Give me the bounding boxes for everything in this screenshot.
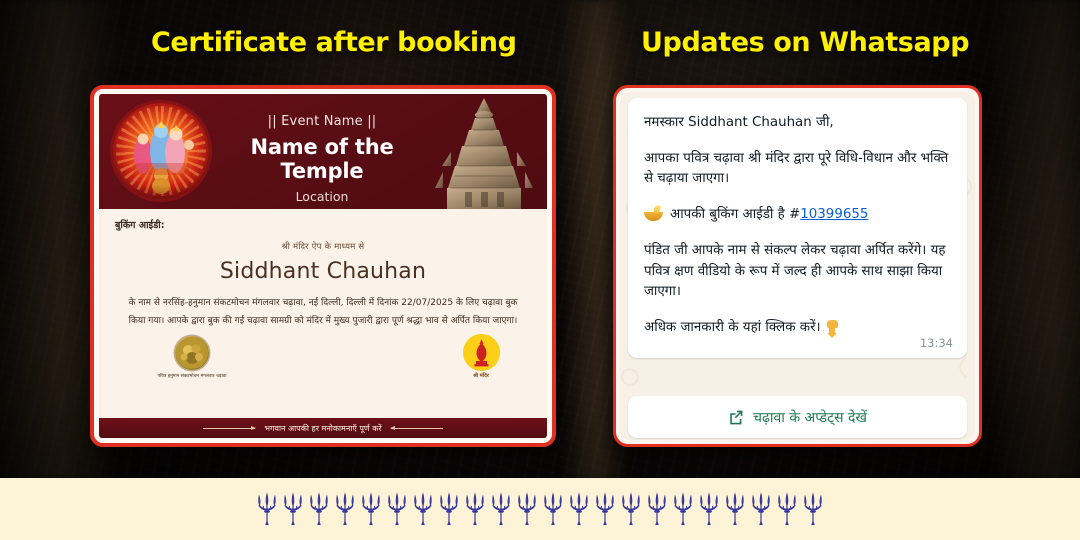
trishul-icon [256, 492, 278, 526]
trishul-icon [750, 492, 772, 526]
booking-id-label: बुकिंग आईडी: [115, 218, 531, 231]
trishul-icon [646, 492, 668, 526]
trishul-icon [568, 492, 590, 526]
brand-seal: श्री मंदिर [453, 334, 509, 379]
bottom-band [0, 478, 1080, 540]
diya-icon [644, 207, 663, 221]
certificate-body: बुकिंग आईडी: श्री मंदिर ऐप के माध्यम से … [99, 209, 547, 418]
deity-circle-icon [113, 103, 209, 199]
wa-pandit-line: पंडित जी आपके नाम से संकल्प लेकर चढ़ावा … [644, 241, 951, 301]
wa-greeting: नमस्कार Siddhant Chauhan जी, [644, 113, 951, 133]
trishul-row [256, 492, 824, 526]
trishul-icon [438, 492, 460, 526]
trishul-icon [464, 492, 486, 526]
message-timestamp: 13:34 [920, 336, 953, 350]
certificate-title-block: || Event Name || Name of the Temple Loca… [217, 114, 427, 204]
trishul-icon [386, 492, 408, 526]
poster-canvas: Certificate after booking Updates on Wha… [0, 0, 1080, 540]
certificate-paragraph: के नाम से नरसिंह-हनुमान संकटमोचन मंगलवार… [115, 295, 531, 330]
brand-caption: श्री मंदिर [453, 373, 509, 379]
trishul-icon [412, 492, 434, 526]
devotee-name: Siddhant Chauhan [115, 259, 531, 284]
external-link-icon [728, 409, 744, 425]
wa-more-info-line: अधिक जानकारी के यहां क्लिक करें। [644, 318, 951, 338]
temple-seal-caption: पवित्र हनुमान संकटमोचन मंगलवार चढ़ावा [155, 374, 229, 381]
footer-rule-left [203, 428, 255, 429]
certificate-seals: पवित्र हनुमान संकटमोचन मंगलवार चढ़ावा [115, 334, 531, 400]
trishul-icon [672, 492, 694, 526]
trishul-icon [308, 492, 330, 526]
trishul-icon [490, 492, 512, 526]
deity-badge-shade [113, 185, 209, 199]
temple-name: Name of the Temple [217, 135, 427, 183]
trishul-icon [282, 492, 304, 526]
whatsapp-message-bubble: नमस्कार Siddhant Chauhan जी, आपका पवित्र… [628, 98, 967, 358]
certificate-header: || Event Name || Name of the Temple Loca… [99, 94, 547, 209]
event-name: || Event Name || [217, 114, 427, 129]
trishul-icon [724, 492, 746, 526]
footer-rule-right [391, 428, 443, 429]
trishul-icon [620, 492, 642, 526]
trishul-icon [776, 492, 798, 526]
via-app-text: श्री मंदिर ऐप के माध्यम से [115, 241, 531, 252]
temple-seal-icon [175, 336, 209, 370]
wa-more-info-text: अधिक जानकारी के यहां क्लिक करें। [644, 318, 821, 338]
certificate-card: || Event Name || Name of the Temple Loca… [90, 85, 556, 447]
temple-shikhara-icon [425, 96, 543, 209]
wa-booking-prefix: आपकी बुकिंग आईडी है #10399655 [670, 205, 868, 225]
shree-mandir-logo-icon [463, 334, 500, 371]
trishul-icon [334, 492, 356, 526]
trishul-icon [802, 492, 824, 526]
view-updates-label: चढ़ावा के अप्डेट्स देखें [753, 408, 867, 427]
heading-certificate: Certificate after booking [151, 27, 517, 58]
wa-offering-line: आपका पवित्र चढ़ावा श्री मंदिर द्वारा पूर… [644, 149, 951, 189]
heading-whatsapp: Updates on Whatsapp [641, 27, 969, 58]
certificate-inner: || Event Name || Name of the Temple Loca… [99, 94, 547, 438]
whatsapp-wallpaper: नमस्कार Siddhant Chauhan जी, आपका पवित्र… [620, 92, 975, 440]
view-updates-button[interactable]: चढ़ावा के अप्डेट्स देखें [628, 396, 967, 438]
footer-blessing: भगवान आपकी हर मनोकामनाएँ पूर्ण करें [264, 423, 381, 434]
trishul-icon [542, 492, 564, 526]
trishul-icon [698, 492, 720, 526]
trishul-icon [360, 492, 382, 526]
wa-booking-id-line: आपकी बुकिंग आईडी है #10399655 [644, 205, 951, 225]
trishul-icon [594, 492, 616, 526]
whatsapp-card: नमस्कार Siddhant Chauhan जी, आपका पवित्र… [613, 85, 982, 447]
trishul-icon [516, 492, 538, 526]
certificate-footer: भगवान आपकी हर मनोकामनाएँ पूर्ण करें [99, 418, 547, 438]
pointing-down-icon [825, 320, 840, 336]
temple-location: Location [217, 189, 427, 204]
booking-id-link[interactable]: 10399655 [800, 207, 868, 222]
temple-seal: पवित्र हनुमान संकटमोचन मंगलवार चढ़ावा [155, 336, 229, 381]
